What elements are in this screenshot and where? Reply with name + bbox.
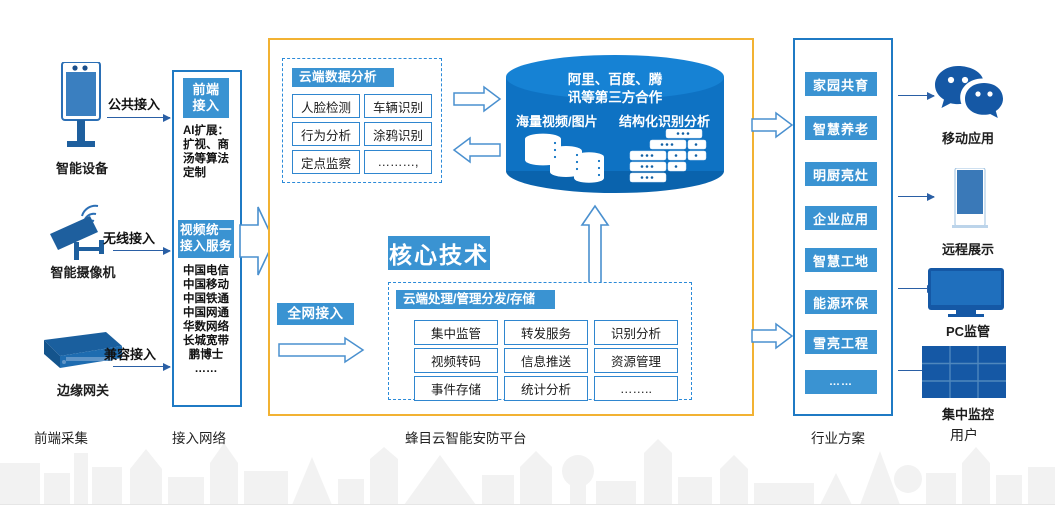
operator-item: 中国铁通 — [178, 292, 234, 306]
industry-item-qiyeyingyong[interactable]: 企业应用 — [805, 206, 877, 230]
core-tech-item[interactable]: 信息推送 — [504, 348, 588, 373]
core-tech-item[interactable]: 统计分析 — [504, 376, 588, 401]
cylinder-title-line1: 阿里、百度、腾 — [506, 71, 724, 89]
device-label-smart-device: 智能设备 — [32, 158, 132, 177]
link-label-compatible-access: 兼容接入 — [104, 344, 156, 363]
cylinder-title: 阿里、百度、腾 讯等第三方合作 — [506, 71, 724, 107]
video-access-badge: 视频统一 接入服务 — [178, 220, 234, 258]
user-label-pc-monitor: PC监管 — [918, 321, 1018, 340]
arrow-platform-to-industry-top — [750, 111, 794, 139]
core-tech-item[interactable]: …….. — [594, 376, 678, 401]
operator-item: 中国电信 — [178, 264, 234, 278]
operator-item: 中国移动 — [178, 278, 234, 292]
device-label-smart-camera: 智能摄像机 — [28, 262, 138, 281]
cylinder-label-massive-video: 海量视频/图片 — [516, 111, 598, 130]
industry-item-nengyuanhuanbao[interactable]: 能源环保 — [805, 290, 877, 314]
cloud-analysis-item[interactable]: 人脸检测 — [292, 94, 360, 118]
arrow-to-remote-display — [898, 196, 934, 197]
industry-item-zhihuigongdi[interactable]: 智慧工地 — [805, 248, 877, 272]
core-tech-subtitle: 云端处理/管理分发/存储 — [396, 290, 555, 309]
cloud-analysis-item[interactable]: ………, — [364, 150, 432, 174]
core-tech-item[interactable]: 集中监管 — [414, 320, 498, 345]
cloud-analysis-item[interactable]: 行为分析 — [292, 122, 360, 146]
operator-list: 中国电信 中国移动 中国铁通 中国网通 华数网络 长城宽带 鹏博士 …… — [178, 264, 234, 376]
database-stack-icon — [522, 131, 606, 190]
front-access-note-1: 扩视、商 — [183, 138, 237, 152]
link-label-public-access: 公共接入 — [108, 94, 160, 113]
cloud-analysis-item[interactable]: 定点监察 — [292, 150, 360, 174]
core-tech-item[interactable]: 识别分析 — [594, 320, 678, 345]
industry-item-jiayuangongyu[interactable]: 家园共育 — [805, 72, 877, 96]
full-network-access-badge: 全网接入 — [277, 303, 354, 325]
arrow-cloud-to-analysis — [452, 136, 502, 164]
operator-item: 长城宽带 — [178, 334, 234, 348]
user-label-central-monitoring: 集中监控 — [918, 404, 1018, 423]
cylinder-title-line2: 讯等第三方合作 — [506, 89, 724, 107]
device-label-edge-gateway: 边缘网关 — [28, 380, 138, 399]
user-label-remote-display: 远程展示 — [918, 239, 1018, 258]
core-tech-item[interactable]: 资源管理 — [594, 348, 678, 373]
arrow-analysis-to-cloud — [452, 85, 502, 113]
face-terminal-icon — [52, 62, 110, 154]
industry-item-zhihuiyanglao[interactable]: 智慧养老 — [805, 116, 877, 140]
cylinder-label-structured-analysis: 结构化识别分析 — [619, 111, 710, 130]
cloud-analysis-title: 云端数据分析 — [292, 68, 394, 87]
front-access-title-line1: 前端 — [192, 82, 219, 98]
industry-item-xueliang[interactable]: 雪亮工程 — [805, 330, 877, 354]
core-tech-item[interactable]: 事件存储 — [414, 376, 498, 401]
wechat-icon — [934, 63, 1004, 121]
operator-item: 鹏博士 — [178, 348, 234, 362]
kiosk-display-icon — [946, 168, 994, 230]
operator-item: 中国网通 — [178, 306, 234, 320]
arrow-platform-to-industry-bottom — [750, 322, 794, 350]
video-access-title-line1: 视频统一 — [180, 223, 232, 239]
front-access-note-0: AI扩展： — [183, 124, 237, 138]
user-label-mobile-app: 移动应用 — [918, 128, 1018, 147]
caption-platform: 蜂目云智能安防平台 — [405, 427, 527, 447]
front-access-notes: AI扩展： 扩视、商 汤等算法 定制 — [183, 124, 237, 180]
front-access-note-2: 汤等算法 — [183, 152, 237, 166]
architecture-diagram: 智能设备 公共接入 智能摄像机 无线接入 边缘网关 兼容接入 — [0, 0, 1055, 505]
link-label-wireless-access: 无线接入 — [103, 228, 155, 247]
cloud-cylinder: 阿里、百度、腾 讯等第三方合作 海量视频/图片 结构化识别分析 — [506, 55, 724, 193]
operator-item: …… — [178, 362, 234, 376]
arrow-to-mobile-app — [898, 95, 934, 96]
industry-item-mingchuliangzao[interactable]: 明厨亮灶 — [805, 162, 877, 186]
core-tech-title: 核心技术 — [388, 236, 490, 270]
front-access-badge: 前端 接入 — [183, 78, 229, 118]
core-tech-item[interactable]: 转发服务 — [504, 320, 588, 345]
arrow-coretech-to-cloud — [580, 203, 610, 285]
arrow-public-access — [107, 117, 170, 118]
front-access-note-3: 定制 — [183, 166, 237, 180]
industry-item-more[interactable]: …… — [805, 370, 877, 394]
cloud-analysis-item[interactable]: 车辆识别 — [364, 94, 432, 118]
monitor-icon — [928, 268, 1004, 318]
caption-access-network: 接入网络 — [172, 427, 226, 447]
caption-industry: 行业方案 — [811, 427, 865, 447]
skyline-watermark — [0, 433, 1055, 505]
cloud-analysis-item[interactable]: 涂鸦识别 — [364, 122, 432, 146]
server-rack-icon — [622, 129, 718, 190]
arrow-wireless-access — [113, 250, 170, 251]
caption-front-end: 前端采集 — [34, 427, 88, 447]
core-tech-item[interactable]: 视频转码 — [414, 348, 498, 373]
front-access-title-line2: 接入 — [192, 98, 219, 114]
video-wall-icon — [922, 346, 1006, 398]
arrow-compatible-access — [113, 366, 170, 367]
arrow-full-network-access — [277, 336, 365, 364]
caption-users: 用户 — [950, 425, 978, 445]
video-access-title-line2: 接入服务 — [180, 239, 232, 255]
operator-item: 华数网络 — [178, 320, 234, 334]
